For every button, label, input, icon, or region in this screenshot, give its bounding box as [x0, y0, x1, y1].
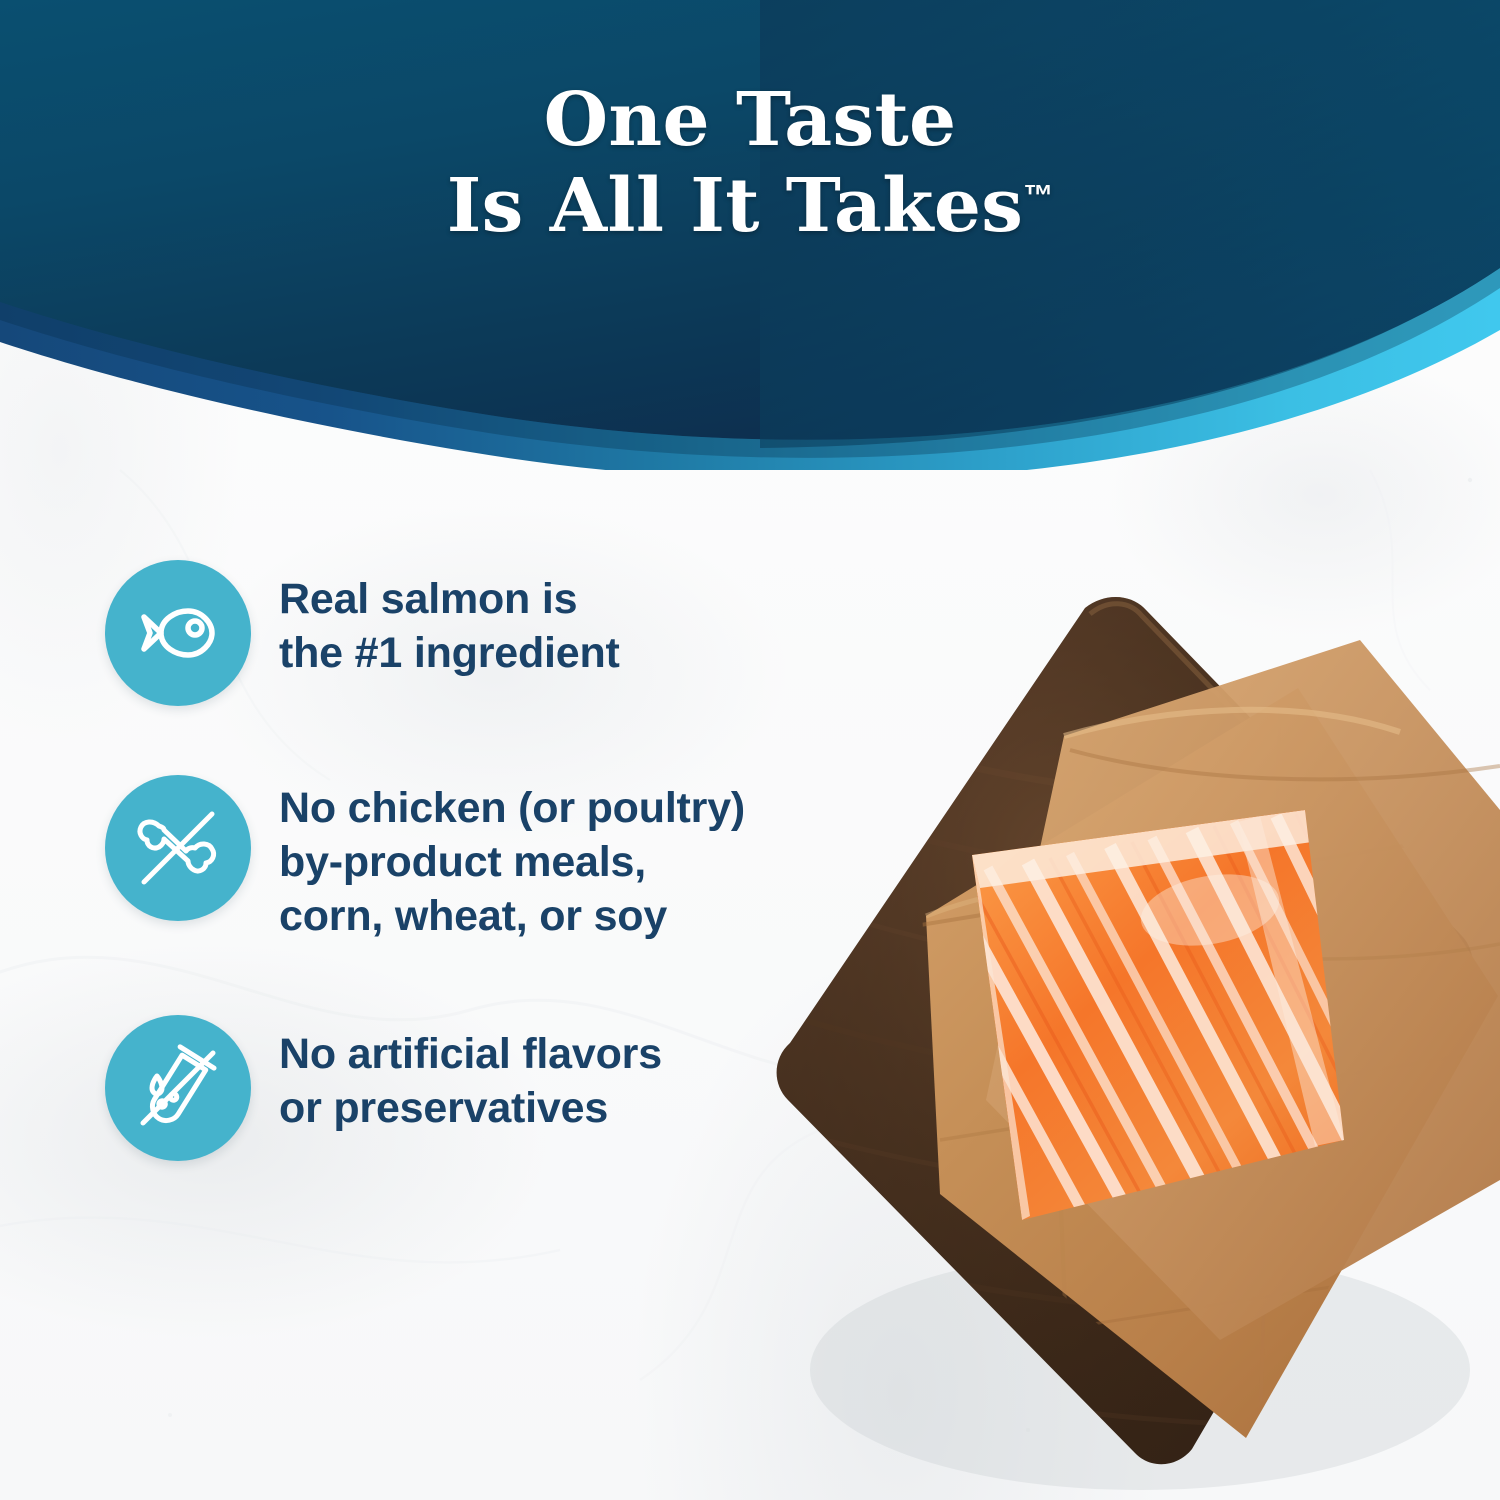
feature-text-no-artificial: No artificial flavors or preservatives	[279, 1015, 662, 1135]
headline-line-2: Is All It Takes	[447, 163, 1023, 249]
header-banner: One Taste Is All It Takes™	[0, 0, 1500, 470]
no-bone-icon	[105, 775, 251, 921]
feature-item-real-salmon: Real salmon is the #1 ingredient	[105, 560, 885, 775]
trademark-symbol: ™	[1023, 179, 1053, 212]
feature-2-line-3: corn, wheat, or soy	[279, 889, 745, 943]
feature-item-no-chicken: No chicken (or poultry) by-product meals…	[105, 775, 885, 1015]
feature-item-no-artificial: No artificial flavors or preservatives	[105, 1015, 885, 1155]
feature-3-line-2: or preservatives	[279, 1081, 662, 1135]
headline-line-2-wrap: Is All It Takes™	[0, 164, 1500, 250]
feature-text-no-chicken: No chicken (or poultry) by-product meals…	[279, 775, 745, 944]
feature-3-line-1: No artificial flavors	[279, 1027, 662, 1081]
feature-2-line-2: by-product meals,	[279, 835, 745, 889]
fish-icon	[105, 560, 251, 706]
page-headline: One Taste Is All It Takes™	[0, 78, 1500, 250]
feature-1-line-1: Real salmon is	[279, 572, 620, 626]
headline-line-1: One Taste	[0, 78, 1500, 164]
promo-page: One Taste Is All It Takes™	[0, 0, 1500, 1500]
feature-text-real-salmon: Real salmon is the #1 ingredient	[279, 560, 620, 680]
feature-list: Real salmon is the #1 ingredient No chic…	[105, 560, 885, 1155]
no-test-tube-icon	[105, 1015, 251, 1161]
feature-1-line-2: the #1 ingredient	[279, 626, 620, 680]
feature-2-line-1: No chicken (or poultry)	[279, 781, 745, 835]
